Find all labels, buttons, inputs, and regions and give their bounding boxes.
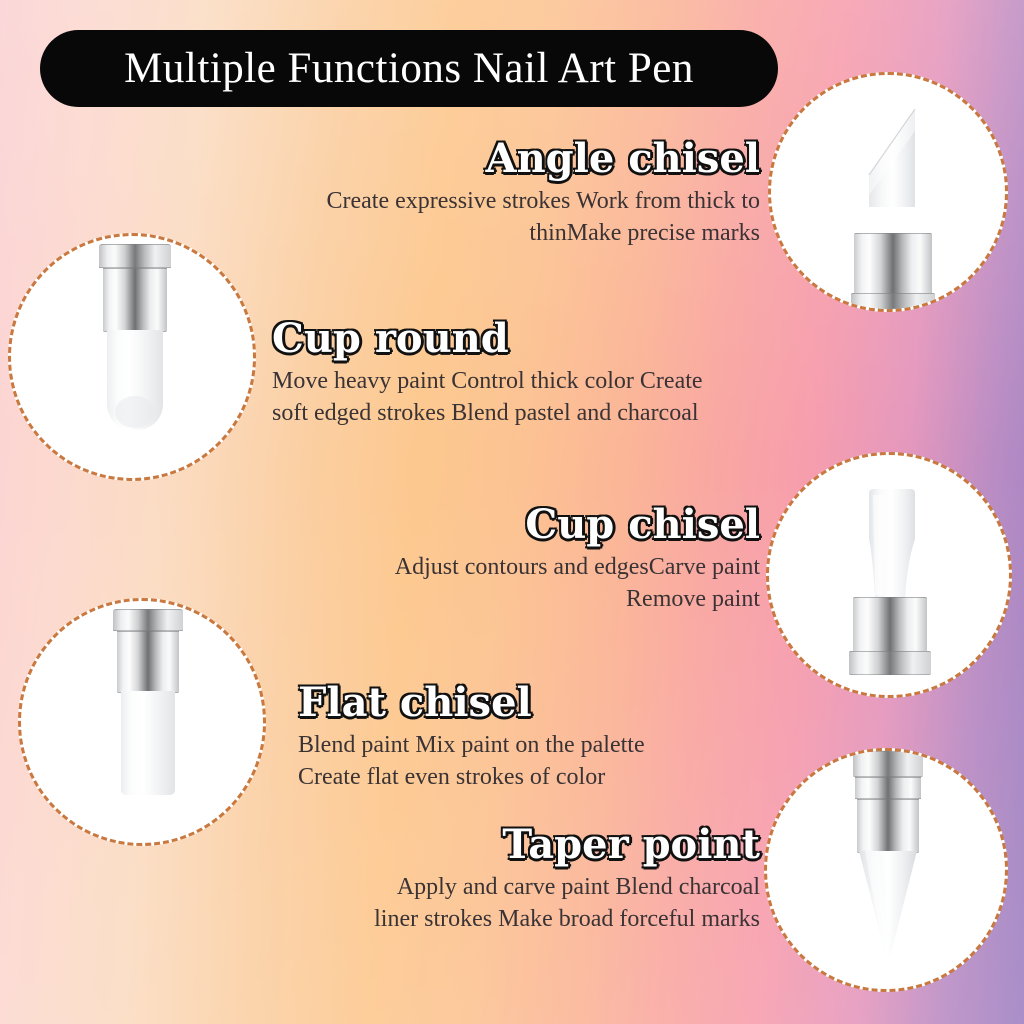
- flat-chisel-body: [121, 691, 175, 795]
- page-title-banner: Multiple Functions Nail Art Pen: [40, 30, 778, 107]
- desc-line: Adjust contours and edgesCarve paint: [210, 552, 760, 584]
- ferrule-main: [857, 799, 919, 853]
- feature-cup-chisel: Cup chisel Adjust contours and edgesCarv…: [210, 504, 760, 615]
- ferrule-band: [849, 651, 931, 675]
- ferrule-band: [113, 609, 183, 631]
- feature-description-cup-round: Move heavy paint Control thick color Cre…: [272, 366, 832, 429]
- ferrule-main: [103, 268, 167, 332]
- angle-chisel-tip-icon: [771, 75, 1005, 309]
- desc-line: Create expressive strokes Work from thic…: [190, 186, 760, 218]
- ferrule-band: [853, 751, 923, 777]
- desc-line: Move heavy paint Control thick color Cre…: [272, 366, 832, 398]
- ferrule-band: [851, 293, 935, 312]
- tip-image-taper-point: [764, 748, 1008, 992]
- feature-description-cup-chisel: Adjust contours and edgesCarve paint Rem…: [210, 552, 760, 615]
- desc-line: Create flat even strokes of color: [298, 762, 838, 794]
- feature-heading-angle-chisel: Angle chisel: [190, 138, 760, 180]
- cup-round-tip-icon: [11, 236, 253, 478]
- feature-taper-point: Taper point Apply and carve paint Blend …: [230, 824, 760, 935]
- feature-angle-chisel: Angle chisel Create expressive strokes W…: [190, 138, 760, 249]
- feature-heading-cup-chisel: Cup chisel: [210, 504, 760, 546]
- feature-description-angle-chisel: Create expressive strokes Work from thic…: [190, 186, 760, 249]
- desc-line: thinMake precise marks: [190, 218, 760, 250]
- cup-chisel-tip-icon: [769, 455, 1009, 695]
- ferrule-band: [99, 244, 171, 268]
- taper-point-tip-icon: [767, 751, 1005, 989]
- ferrule-main: [854, 233, 932, 297]
- feature-description-flat-chisel: Blend paint Mix paint on the palette Cre…: [298, 730, 838, 793]
- desc-line: Apply and carve paint Blend charcoal: [230, 872, 760, 904]
- feature-description-taper-point: Apply and carve paint Blend charcoal lin…: [230, 872, 760, 935]
- tip-image-cup-round: [8, 233, 256, 481]
- cup-round-shadow-icon: [107, 390, 163, 430]
- ferrule-main: [853, 597, 927, 655]
- cup-chisel-blade-icon: [847, 487, 937, 602]
- tip-image-cup-chisel: [766, 452, 1012, 698]
- angle-chisel-blade-icon: [853, 105, 933, 245]
- tip-image-angle-chisel: [768, 72, 1008, 312]
- feature-heading-flat-chisel: Flat chisel: [298, 682, 838, 724]
- page-title: Multiple Functions Nail Art Pen: [124, 44, 694, 93]
- flat-chisel-tip-icon: [21, 601, 263, 843]
- feature-flat-chisel: Flat chisel Blend paint Mix paint on the…: [298, 682, 838, 793]
- ferrule-band-second: [855, 777, 921, 799]
- desc-line: Blend paint Mix paint on the palette: [298, 730, 838, 762]
- desc-line: liner strokes Make broad forceful marks: [230, 904, 760, 936]
- feature-cup-round: Cup round Move heavy paint Control thick…: [272, 318, 832, 429]
- feature-heading-taper-point: Taper point: [230, 824, 760, 866]
- desc-line: Remove paint: [210, 584, 760, 616]
- tip-image-flat-chisel: [18, 598, 266, 846]
- feature-heading-cup-round: Cup round: [272, 318, 832, 360]
- taper-point-cone-icon: [857, 851, 919, 959]
- ferrule-main: [117, 631, 179, 693]
- desc-line: soft edged strokes Blend pastel and char…: [272, 398, 832, 430]
